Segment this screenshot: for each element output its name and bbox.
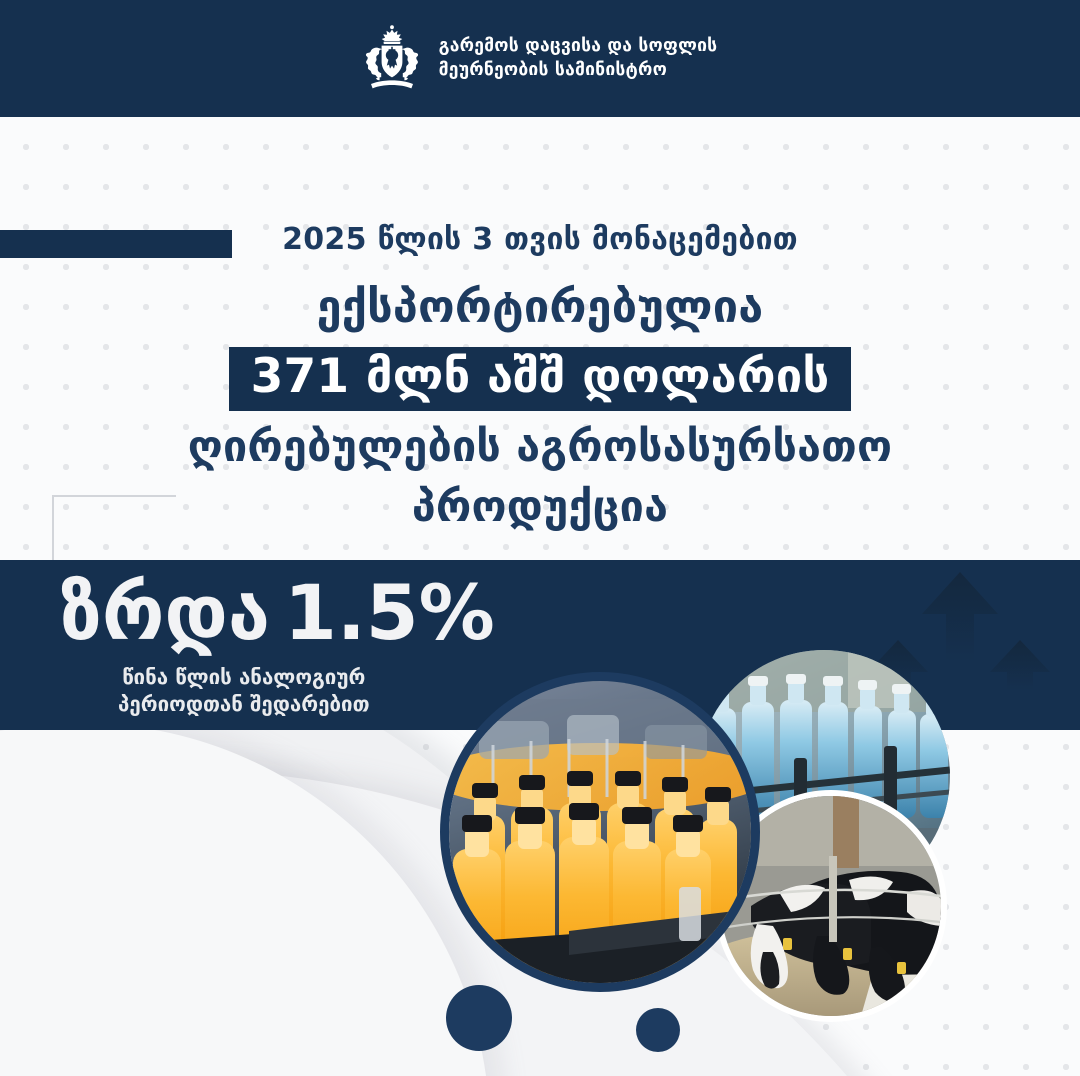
infographic-poster: გარემოს დაცვისა და სოფლის მეურნეობის სამ… bbox=[0, 0, 1080, 1076]
headline-section: 2025 წლის 3 თვის მონაცემებით ექსპორტირებ… bbox=[0, 117, 1080, 560]
ministry-name-label: გარემოს დაცვისა და სოფლის მეურნეობის სამ… bbox=[439, 35, 718, 82]
accent-dot-small bbox=[636, 1008, 680, 1052]
headline-line-4: პროდუქცია bbox=[0, 482, 1080, 532]
georgia-coat-of-arms-icon bbox=[363, 24, 421, 94]
headline-line-3: ღირებულების აგროსასურსათო bbox=[0, 422, 1080, 472]
growth-statistic: ზრდა1.5% bbox=[60, 568, 495, 657]
accent-dot-large bbox=[446, 985, 512, 1051]
growth-comparison-note: წინა წლის ანალოგიურ პერიოდთან შედარებით bbox=[118, 664, 370, 718]
period-kicker-label: 2025 წლის 3 თვის მონაცემებით bbox=[0, 222, 1080, 257]
three-up-arrows-icon bbox=[870, 566, 1050, 726]
ministry-header-bar: გარემოს დაცვისა და სოფლის მეურნეობის სამ… bbox=[0, 0, 1080, 117]
headline-amount-highlight: 371 მლნ აშშ დოლარის bbox=[229, 347, 852, 411]
growth-value: 1.5% bbox=[284, 568, 495, 657]
headline-highlight-wrapper: 371 მლნ აშშ დოლარის bbox=[0, 347, 1080, 411]
growth-label: ზრდა bbox=[60, 568, 270, 657]
headline-line-1: ექსპორტირებულია bbox=[0, 280, 1080, 333]
growth-band: ზრდა1.5% წინა წლის ანალოგიურ პერიოდთან შ… bbox=[0, 560, 1080, 730]
